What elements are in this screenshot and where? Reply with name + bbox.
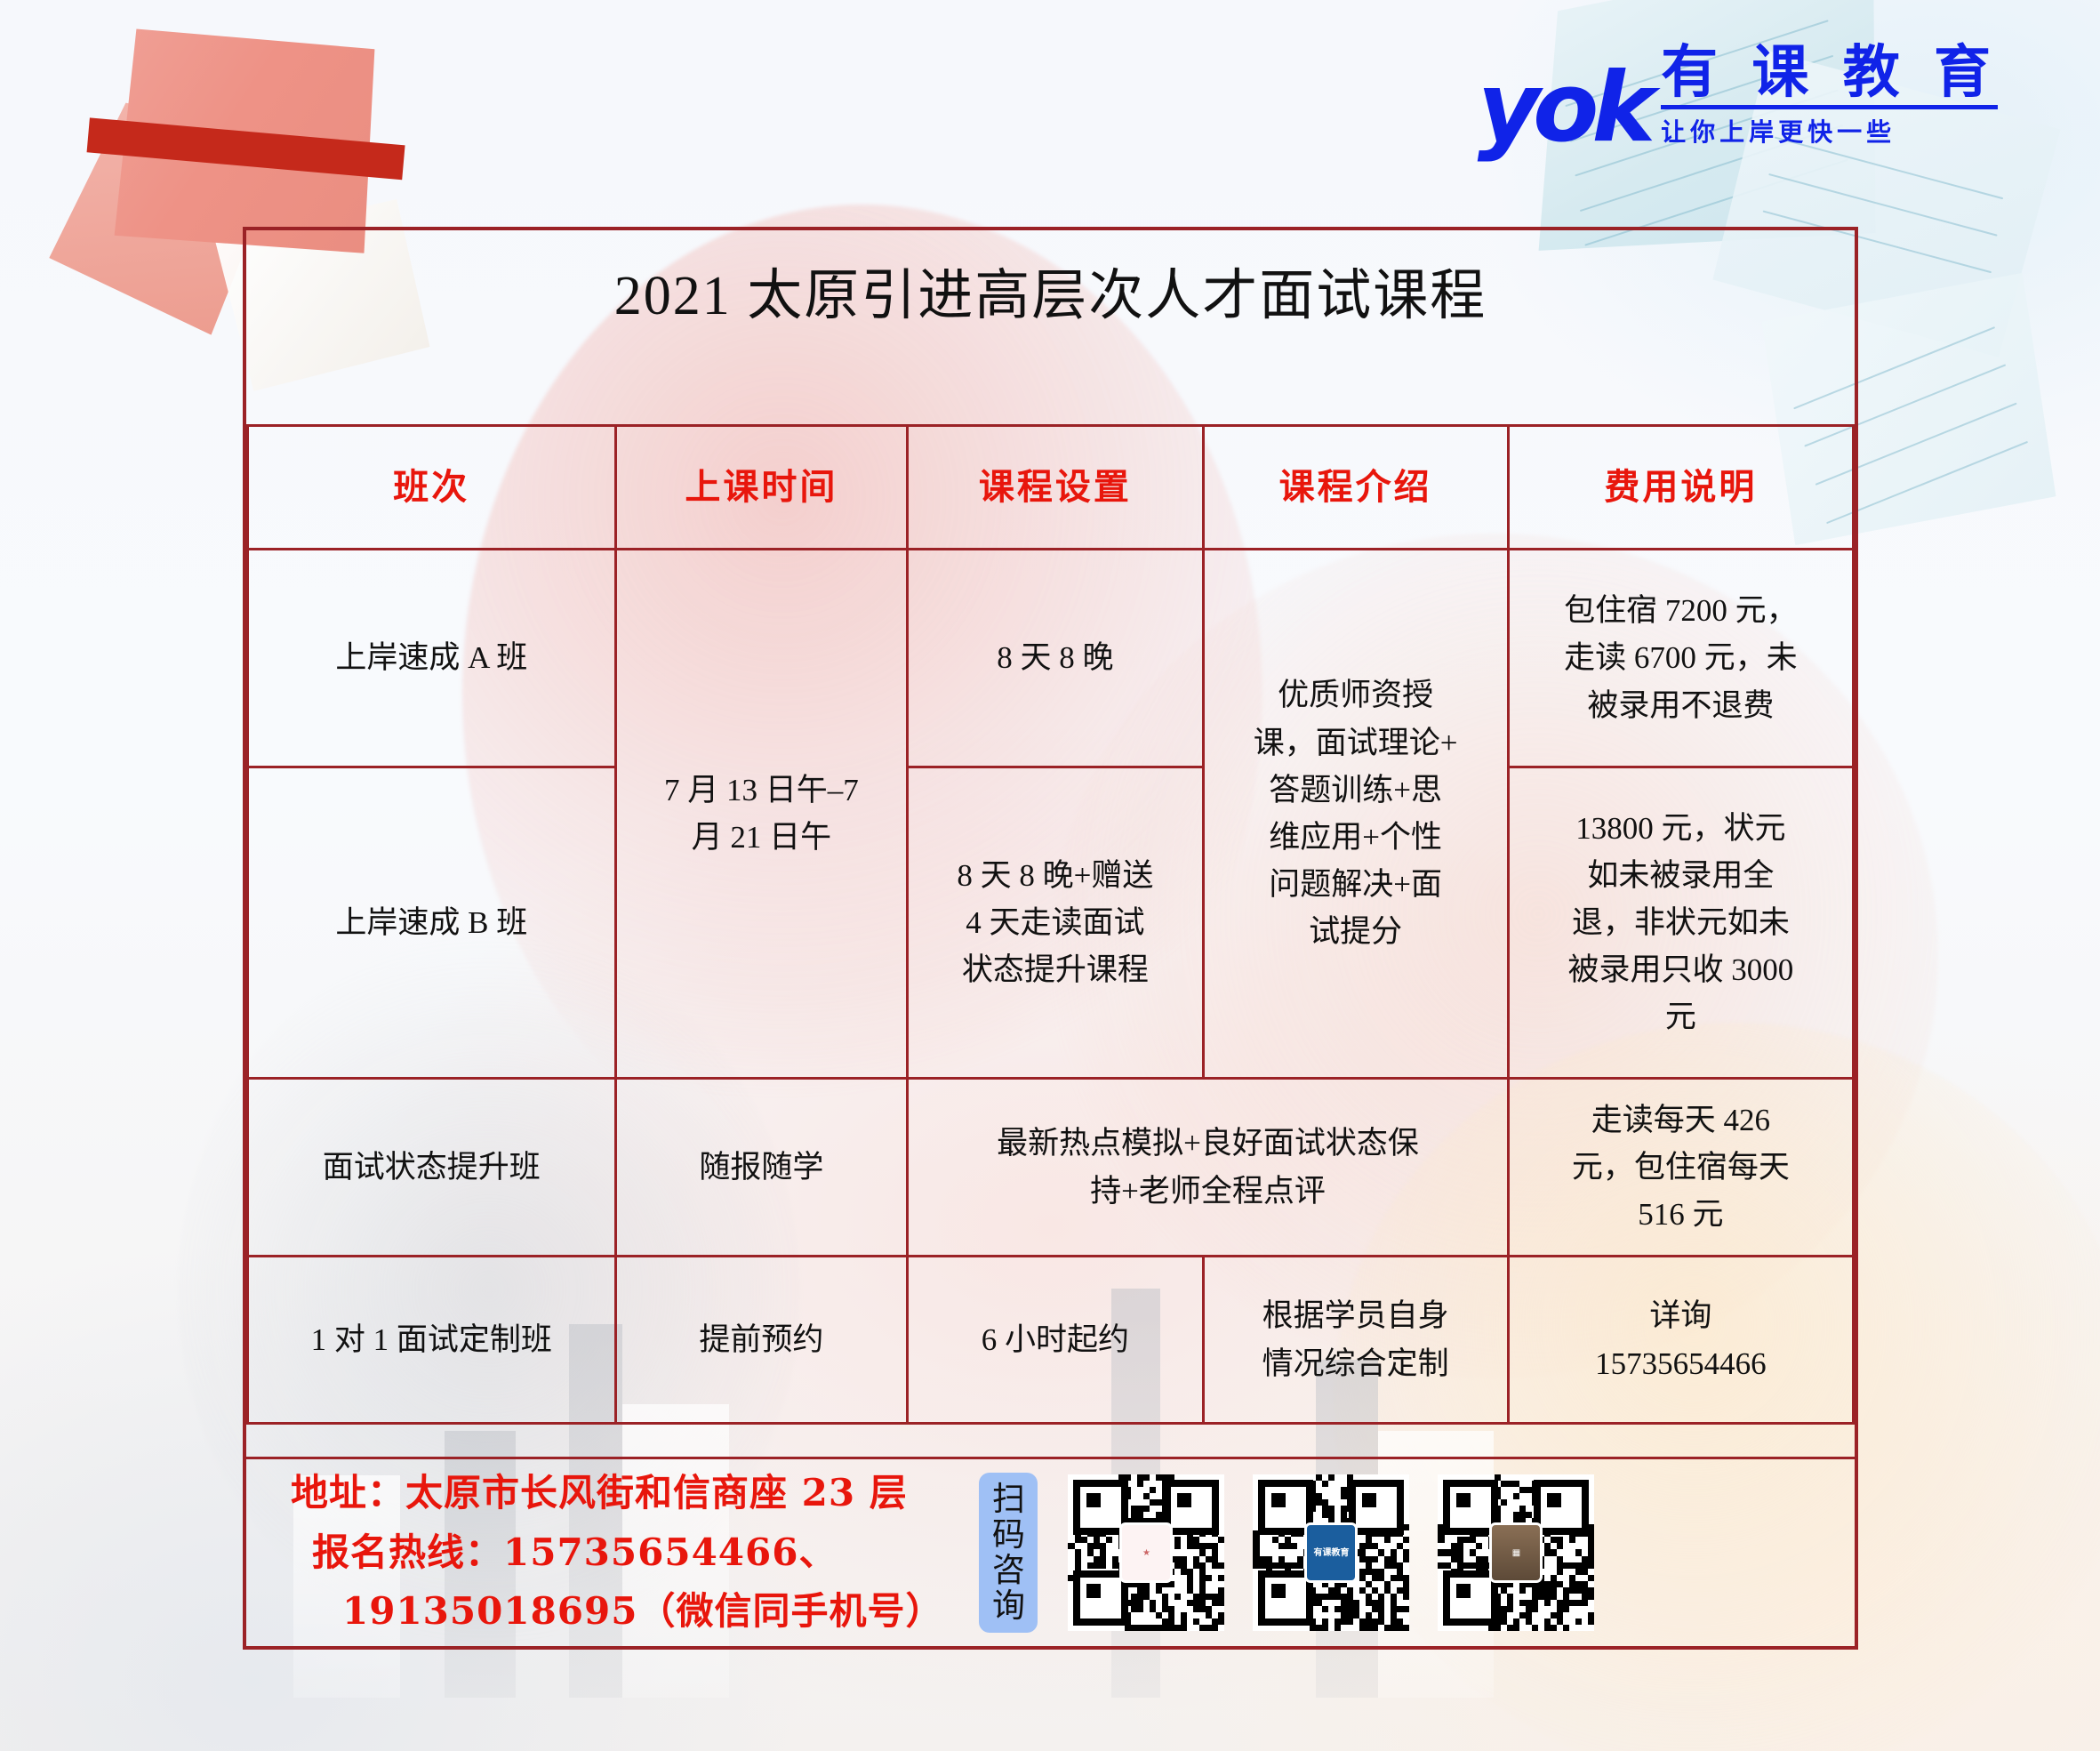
column-header-time: 上课时间	[615, 426, 908, 550]
cell-class-name: 上岸速成 B 班	[248, 767, 616, 1079]
column-header-class: 班次	[248, 426, 616, 550]
table-row: 1 对 1 面试定制班 提前预约 6 小时起约 根据学员自身 情况综合定制 详询…	[248, 1257, 1854, 1424]
cell-class-name: 1 对 1 面试定制班	[248, 1257, 616, 1424]
cell-fee: 包住宿 7200 元， 走读 6700 元，未 被录用不退费	[1508, 550, 1853, 767]
column-header-setup: 课程设置	[908, 426, 1203, 550]
cell-fee: 详询 15735654466	[1508, 1257, 1853, 1424]
contact-hotline: 报名热线：15735654466、	[291, 1523, 943, 1582]
course-table: 班次 上课时间 课程设置 课程介绍 费用说明 上岸速成 A 班 7 月 13 日…	[246, 424, 1855, 1425]
cell-time: 随报随学	[615, 1079, 908, 1257]
cell-setup: 最新热点模拟+良好面试状态保 持+老师全程点评	[908, 1079, 1508, 1257]
qr-center-logo-icon: ▦	[1489, 1522, 1543, 1583]
table-row: 上岸速成 A 班 7 月 13 日午–7 月 21 日午 8 天 8 晚 优质师…	[248, 550, 1854, 767]
logo-slogan: 让你上岸更快一些	[1661, 113, 1896, 149]
table-row: 上岸速成 B 班 8 天 8 晚+赠送 4 天走读面试 状态提升课程 13800…	[248, 767, 1854, 1079]
cell-time: 7 月 13 日午–7 月 21 日午	[615, 550, 908, 1079]
cell-intro: 优质师资授 课，面试理论+ 答题训练+思 维应用+个性 问题解决+面 试提分	[1203, 550, 1508, 1079]
table-row: 面试状态提升班 随报随学 最新热点模拟+良好面试状态保 持+老师全程点评 走读每…	[248, 1079, 1854, 1257]
cell-class-name: 上岸速成 A 班	[248, 550, 616, 767]
qr-code-group: ★ 有课教育 ▦	[1068, 1474, 1594, 1631]
cell-fee: 13800 元，状元 如未被录用全 退，非状元如未 被录用只收 3000 元	[1508, 767, 1853, 1079]
page-title: 2021 太原引进高层次人才面试课程	[246, 250, 1855, 330]
logo-brand-name: 有 课 教 育	[1661, 44, 1998, 101]
poster-canvas: yok 有 课 教 育 让你上岸更快一些 2021 太原引进高层次人才面试课程 …	[0, 0, 2100, 1751]
contact-hotline-secondary: 19135018695（微信同手机号）	[291, 1582, 943, 1641]
cell-fee: 走读每天 426 元，包住宿每天 516 元	[1508, 1079, 1853, 1257]
contact-footer: 地址：太原市长风街和信商座 23 层 报名热线：15735654466、 191…	[246, 1457, 1855, 1646]
column-header-fee: 费用说明	[1508, 426, 1853, 550]
cell-setup: 8 天 8 晚	[908, 550, 1203, 767]
brand-logo: yok 有 课 教 育 让你上岸更快一些	[1478, 44, 1998, 149]
cell-setup: 6 小时起约	[908, 1257, 1203, 1424]
contact-address: 地址：太原市长风街和信商座 23 层	[291, 1464, 943, 1522]
table-header-row: 班次 上课时间 课程设置 课程介绍 费用说明	[248, 426, 1854, 550]
poster-frame: 2021 太原引进高层次人才面试课程 班次 上课时间 课程设置 课程介绍 费用说…	[243, 227, 1858, 1650]
qr-code-1[interactable]: ★	[1068, 1474, 1224, 1631]
qr-center-logo-icon: ★	[1119, 1522, 1173, 1583]
qr-code-3[interactable]: ▦	[1438, 1474, 1594, 1631]
qr-code-2[interactable]: 有课教育	[1253, 1474, 1409, 1631]
logo-mark-yok: yok	[1478, 69, 1648, 149]
qr-center-logo-icon: 有课教育	[1304, 1522, 1358, 1583]
cell-time: 提前预约	[615, 1257, 908, 1424]
scan-qr-badge: 扫码咨询	[979, 1473, 1038, 1633]
cell-intro: 根据学员自身 情况综合定制	[1203, 1257, 1508, 1424]
cell-setup: 8 天 8 晚+赠送 4 天走读面试 状态提升课程	[908, 767, 1203, 1079]
cell-class-name: 面试状态提升班	[248, 1079, 616, 1257]
contact-block: 地址：太原市长风街和信商座 23 层 报名热线：15735654466、 191…	[246, 1464, 943, 1641]
column-header-intro: 课程介绍	[1203, 426, 1508, 550]
logo-divider	[1661, 105, 1998, 109]
